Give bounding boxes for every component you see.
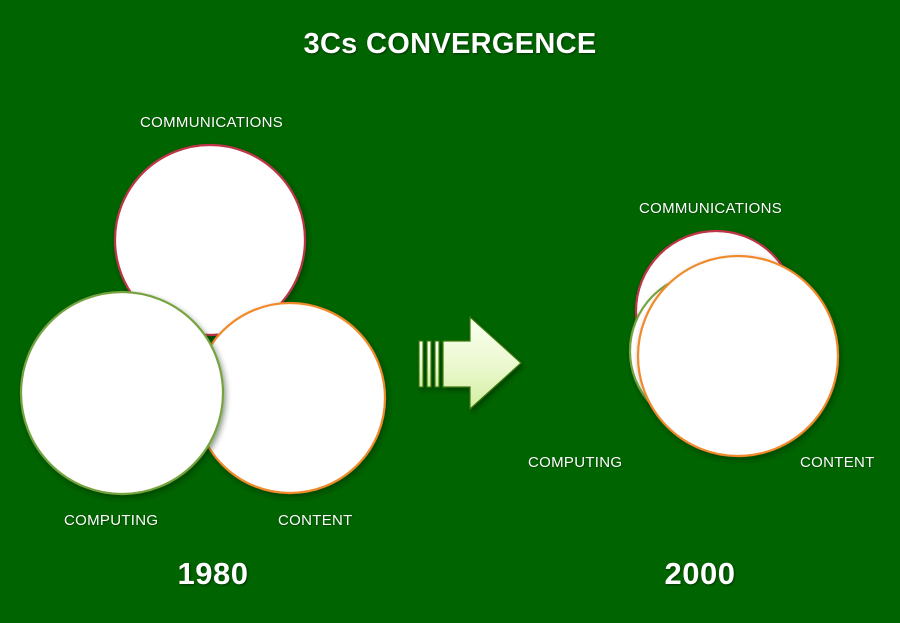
- venn-diagram-1980: [0, 0, 900, 623]
- arrow-stripe-3: [435, 341, 439, 387]
- year-caption-1980: 1980: [133, 556, 293, 592]
- label-communications-2000: COMMUNICATIONS: [639, 200, 782, 217]
- label-content-2000: CONTENT: [800, 454, 875, 471]
- convergence-arrow: [419, 317, 521, 409]
- label-content-1980: CONTENT: [278, 512, 353, 529]
- arrow-stripe-2: [427, 341, 431, 387]
- slide-canvas: 3Cs CONVERGENCE: [0, 0, 900, 623]
- circle-content-2000[interactable]: [638, 256, 838, 456]
- arrow-body: [443, 317, 521, 409]
- label-computing-2000: COMPUTING: [528, 454, 622, 471]
- label-computing-1980: COMPUTING: [64, 512, 158, 529]
- circle-computing-1980[interactable]: [21, 292, 223, 494]
- arrow-stripe-1: [419, 341, 423, 387]
- label-communications-1980: COMMUNICATIONS: [140, 114, 283, 131]
- year-caption-2000: 2000: [620, 556, 780, 592]
